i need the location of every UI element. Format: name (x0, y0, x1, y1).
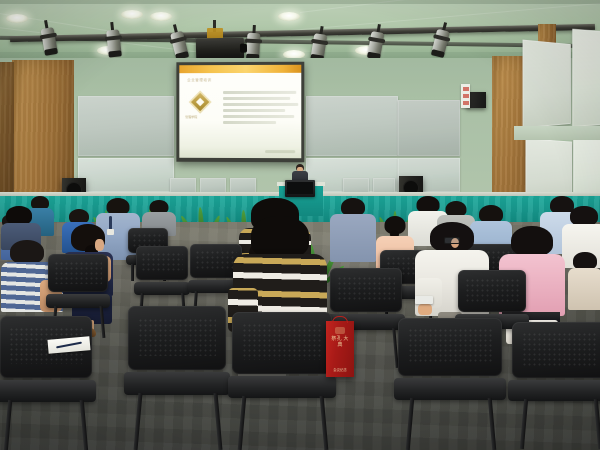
bag-handle (332, 316, 348, 323)
wall-panel-right-upper (523, 40, 571, 129)
presenter-laptop (285, 180, 315, 197)
downlight-icon (150, 12, 172, 21)
hand (418, 304, 432, 315)
glasses-icon (444, 237, 460, 244)
downlight-icon (6, 14, 28, 23)
slide-logo-caption: 管理学院 (185, 115, 197, 119)
stacking-chair[interactable] (128, 306, 226, 450)
slide-body-text (223, 91, 299, 127)
bag-text: 祭孔 大典 (330, 337, 350, 349)
slide-footer-mark (265, 150, 295, 153)
conference-room-photo: 企业管理培训 管理学院 (0, 0, 600, 450)
wall-panel-gap (514, 126, 600, 140)
pen[interactable] (56, 342, 82, 348)
bag-seal (335, 327, 345, 334)
slide-title: 企业管理培训 (187, 77, 211, 82)
acoustic-panel (398, 100, 460, 156)
wall-indicator-strip (461, 84, 470, 108)
smartphone[interactable] (415, 296, 433, 304)
downlight-icon (278, 12, 300, 21)
acoustic-panel (306, 96, 398, 156)
acoustic-panel (78, 96, 174, 156)
ceiling-projector (196, 38, 244, 60)
spotlight (246, 25, 261, 60)
downlight-icon (121, 10, 143, 19)
slide-header-bar (179, 65, 301, 73)
bag-subtext: 会议纪念 (329, 367, 351, 372)
acoustic-panel (78, 158, 174, 192)
face-profile (95, 239, 104, 251)
slide-logo-icon (189, 91, 211, 113)
stacking-chair[interactable] (232, 312, 332, 450)
attendee-beige-top-right (568, 252, 600, 332)
stacking-chair[interactable] (398, 318, 502, 450)
red-gift-bag[interactable]: 祭孔 大典 会议纪念 (326, 321, 354, 377)
attendee-checked-shirt-center (330, 198, 376, 262)
projection-screen-frame: 企业管理培训 管理学院 (176, 62, 304, 163)
stacking-chair[interactable] (512, 322, 600, 450)
projection-screen: 企业管理培训 管理学院 (179, 65, 301, 158)
stacking-chair[interactable] (136, 246, 188, 308)
wall-panel-right-upper-2 (572, 29, 600, 127)
